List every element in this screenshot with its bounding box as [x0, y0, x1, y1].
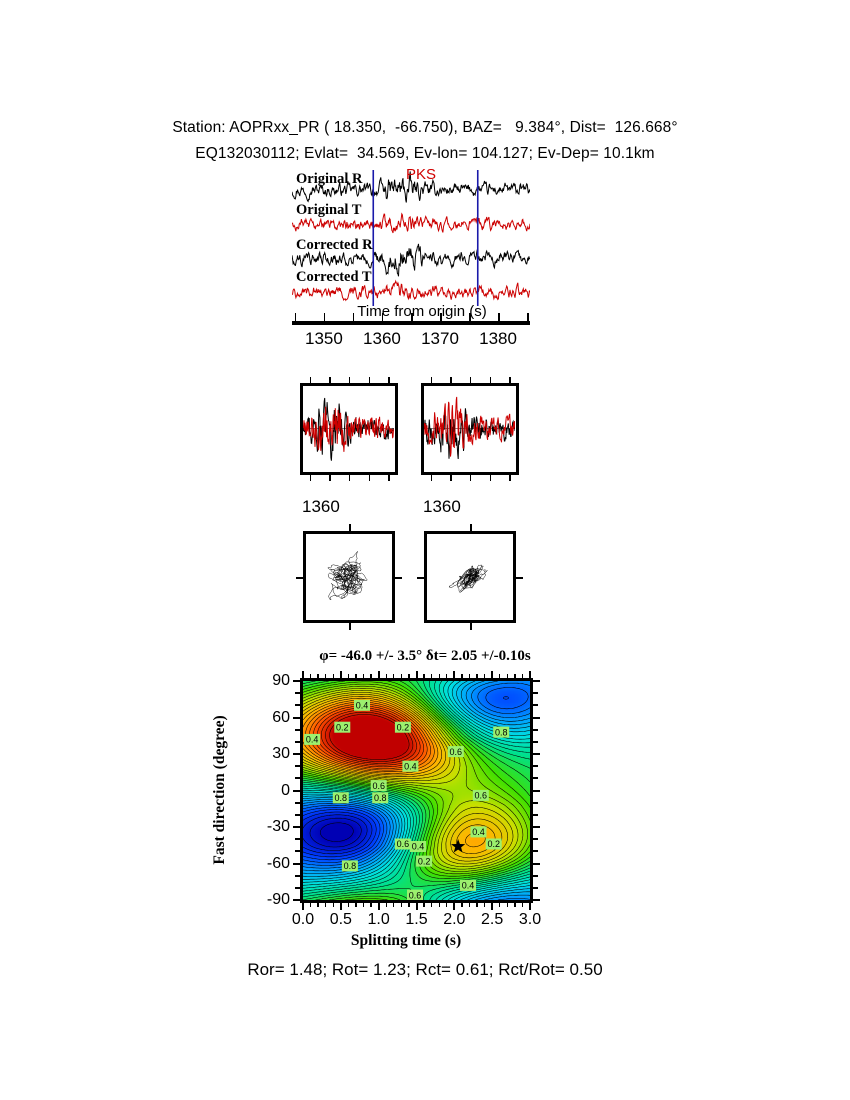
particle-motion-box-original [303, 531, 395, 623]
particle-motion-corrected [427, 534, 512, 619]
time-axis-tick [324, 313, 326, 321]
pks-phase-label: PKS [406, 166, 436, 183]
particle-motion-path [449, 565, 487, 592]
header-station-line: Station: AOPRxx_PR ( 18.350, -66.750), B… [0, 119, 850, 137]
trace-label-original-t: Original T [296, 202, 361, 219]
time-axis: Time from origin (s) 1350136013701380 [292, 305, 532, 357]
header-event-line: EQ132030112; Evlat= 34.569, Ev-lon= 104.… [0, 145, 850, 163]
time-axis-line [292, 321, 530, 325]
trace-label-corrected-t: Corrected T [296, 269, 372, 286]
time-axis-tick [353, 313, 355, 321]
splitting-result-title: φ= -46.0 +/- 3.5° δt= 2.05 +/-0.10s [0, 648, 850, 665]
zoom-waveform-box-left [300, 383, 398, 475]
time-axis-tick [382, 313, 384, 321]
time-axis-tick [295, 313, 297, 321]
particle-motion-path [328, 552, 367, 600]
zoom-waveform-right-traces [424, 386, 515, 471]
trace-label-corrected-r: Corrected R [296, 237, 373, 254]
particle-motion-box-corrected [424, 531, 516, 623]
zoom-waveform-box-right [421, 383, 519, 475]
contour-canvas: 0.40.20.20.40.40.60.80.80.60.80.60.80.60… [300, 678, 533, 903]
contour-surface: 0.40.20.20.40.40.60.80.80.60.80.60.80.60… [303, 681, 530, 900]
splitting-analysis-figure: Station: AOPRxx_PR ( 18.350, -66.750), B… [0, 0, 850, 1100]
time-axis-tick-label: 1360 [363, 329, 401, 349]
time-axis-tick [498, 313, 500, 321]
time-axis-tick-label: 1380 [479, 329, 517, 349]
contour-plot: 0.40.20.20.40.40.60.80.80.60.80.60.80.60… [300, 678, 533, 903]
contour-y-axis-title: Fast direction (degree) [211, 700, 229, 880]
time-axis-tick-label: 1350 [305, 329, 343, 349]
zoom-waveform-left-tick-label: 1360 [302, 497, 340, 517]
time-axis-tick [469, 313, 471, 321]
time-axis-tick [440, 313, 442, 321]
trace-label-original-r: Original R [296, 171, 362, 188]
zoom-waveform-right-tick-label: 1360 [423, 497, 461, 517]
time-axis-tick [527, 313, 529, 321]
zoom-waveform-left-traces [303, 386, 394, 471]
particle-motion-original [306, 534, 391, 619]
time-axis-tick [411, 313, 413, 321]
time-axis-tick-label: 1370 [421, 329, 459, 349]
